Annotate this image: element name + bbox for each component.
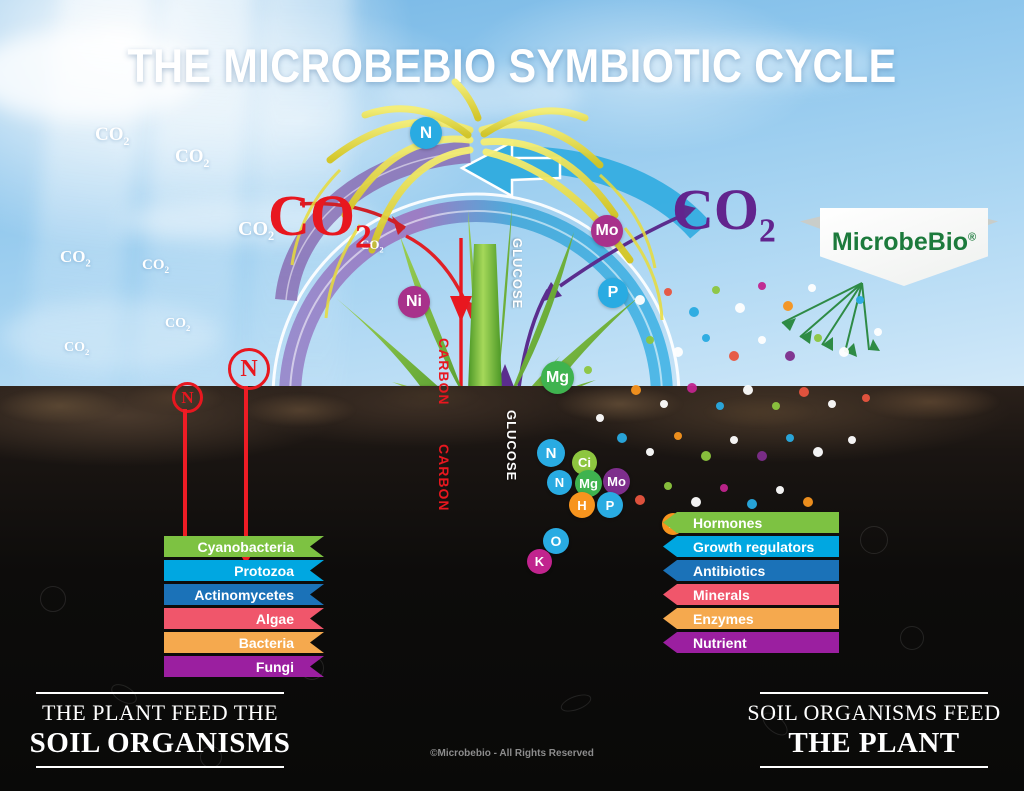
list-item[interactable]: Minerals [663,584,839,605]
glucose-flow-label: GLUCOSE [510,238,525,309]
soil-badge-h: H [569,492,595,518]
co2-left-label: CO2 [268,182,372,257]
list-item[interactable]: Hormones [663,512,839,533]
caption-right-line1: SOIL ORGANISMS FEED [736,700,1012,726]
caption-rule-bottom-right [760,766,988,768]
right-bar-label: Antibiotics [693,563,765,579]
nitrogen-arrow [244,386,248,551]
nitrogen-arrow [183,409,187,544]
soil-badge-mo: Mo [603,468,630,495]
list-item[interactable]: Bacteria [164,632,324,653]
left-bar-label: Algae [256,611,294,627]
list-item[interactable]: Algae [164,608,324,629]
co2-sky-label: CO2 [175,146,209,171]
nitrogen-marker: N [172,382,203,413]
carbon-flow-label: CARBON [436,444,452,511]
co2-sky-label: CO2 [64,340,89,357]
caption-rule-top-right [760,692,988,694]
list-item[interactable]: Enzymes [663,608,839,629]
list-item[interactable]: Fungi [164,656,324,677]
co2-sky-label: CO2 [142,257,169,276]
plant-benefits-bar-group: HormonesGrowth regulatorsAntibioticsMine… [663,512,839,656]
left-bar-label: Actinomycetes [194,587,294,603]
glucose-flow-label: GLUCOSE [504,410,519,481]
logo-text: MicrobeBio® [832,228,976,257]
list-item[interactable]: Nutrient [663,632,839,653]
soil-badge-o: O [543,528,569,554]
caption-rule-top-left [36,692,284,694]
list-item[interactable]: Actinomycetes [164,584,324,605]
list-item[interactable]: Protozoa [164,560,324,581]
right-bar-label: Nutrient [693,635,747,651]
nitrogen-marker: N [228,348,270,390]
list-item[interactable]: Antibiotics [663,560,839,581]
co2-right-label: CO2 [672,176,776,251]
plant-badge-mo: Mo [591,215,623,247]
list-item[interactable]: Cyanobacteria [164,536,324,557]
plant-badge-n: N [410,117,442,149]
right-bar-label: Minerals [693,587,750,603]
caption-rule-bottom-left [36,766,284,768]
soil-badge-n: N [547,470,572,495]
plant-badge-p: P [598,278,628,308]
right-bar-label: Enzymes [693,611,754,627]
soil-badge-k: K [527,549,552,574]
soil-badge-p: P [597,492,623,518]
copyright-text: ©Microbebio - All Rights Reserved [0,748,1024,759]
left-bar-label: Bacteria [239,635,294,651]
co2-sky-label: CO2 [165,316,190,333]
soil-badge-n: N [537,439,565,467]
co2-sky-label: CO2 [95,124,129,149]
co2-sky-label: CO2 [60,247,91,269]
nutrient-particle-spray [0,0,1024,791]
plant-badge-mg: Mg [541,361,574,394]
caption-left-line1: THE PLANT FEED THE [26,700,294,726]
infographic-poster: THE MICROBEBIO SYMBIOTIC CYCLE [0,0,1024,791]
right-bar-label: Growth regulators [693,539,814,555]
left-bar-label: Cyanobacteria [198,539,294,555]
right-bar-label: Hormones [693,515,762,531]
carbon-flow-label: CARBON [436,338,452,405]
plant-badge-ni: Ni [398,286,430,318]
left-bar-label: Fungi [256,659,294,675]
soil-organisms-bar-group: CyanobacteriaProtozoaActinomycetesAlgaeB… [164,536,324,680]
list-item[interactable]: Growth regulators [663,536,839,557]
left-bar-label: Protozoa [234,563,294,579]
